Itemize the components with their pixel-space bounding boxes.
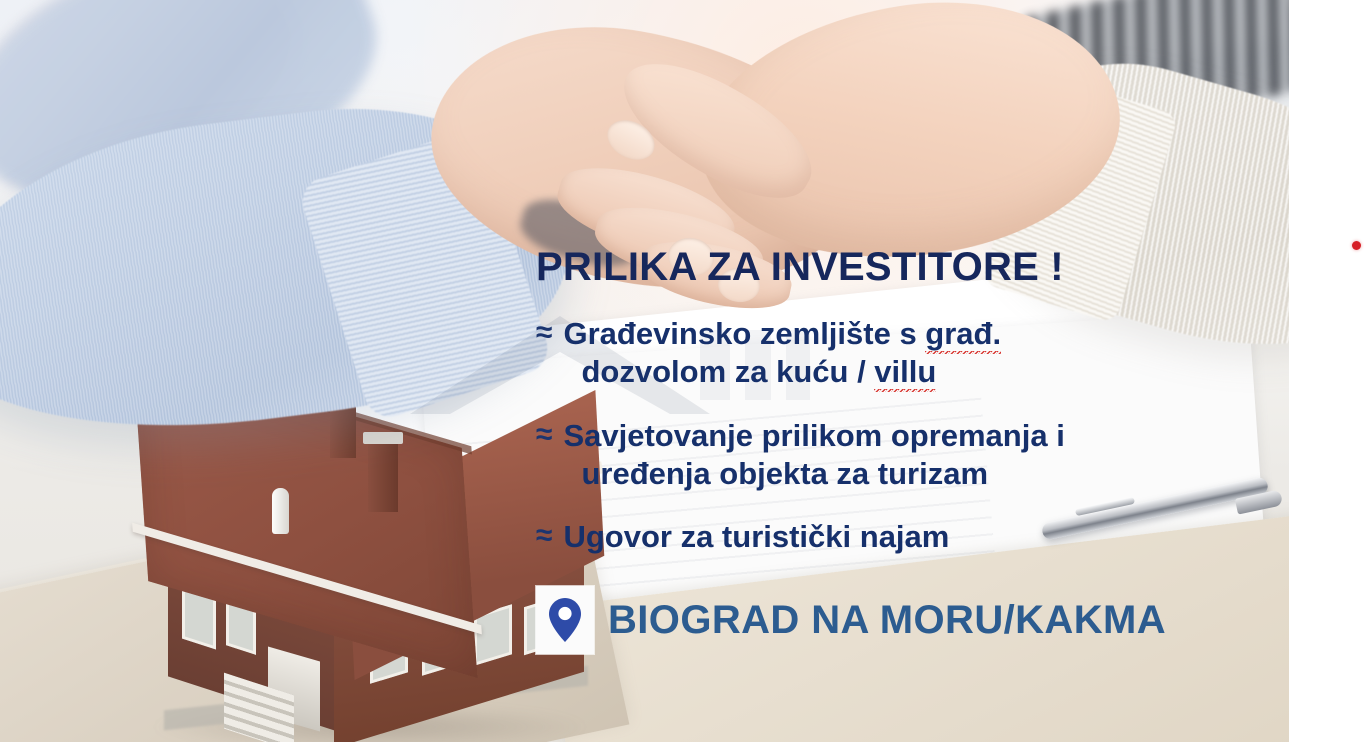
red-accent-dot (1352, 241, 1361, 250)
location-name: BIOGRAD NA MORU/KAKMA (608, 598, 1166, 643)
bullet-marker-icon: ≈ (536, 417, 552, 453)
location-badge: BIOGRAD NA MORU/KAKMA (536, 586, 1296, 654)
bullet-marker-icon: ≈ (536, 518, 552, 554)
list-item-text: Građevinsko zemljište s građ. dozvolom z… (563, 315, 1296, 391)
page-title: PRILIKA ZA INVESTITORE ! (536, 246, 1296, 289)
list-item-line2: uređenja objekta za turizam (563, 455, 1296, 493)
list-item: ≈ Građevinsko zemljište s građ. dozvolom… (536, 315, 1296, 391)
banner-image: PRILIKA ZA INVESTITORE ! ≈ Građevinsko z… (0, 0, 1364, 742)
list-item: ≈ Ugovor za turistički najam (536, 518, 1296, 556)
list-item: ≈ Savjetovanje prilikom opremanja i uređ… (536, 417, 1296, 493)
list-item-line1-a: Građevinsko zemljište s (563, 316, 925, 351)
house-vent-pipe (272, 488, 289, 534)
feature-list: ≈ Građevinsko zemljište s građ. dozvolom… (536, 315, 1296, 556)
list-item-line2-b: villu (874, 354, 936, 392)
right-white-gutter (1289, 0, 1364, 742)
list-item-line1-a: Ugovor za turistički najam (563, 519, 949, 554)
list-item-text: Ugovor za turistički najam (563, 518, 1296, 556)
map-pin-icon (536, 586, 594, 654)
list-item-line2-a: dozvolom za kuću / (581, 354, 874, 389)
list-item-line2-a: uređenja objekta za turizam (581, 456, 988, 491)
model-house (120, 392, 580, 742)
list-item-line1-b: građ. (925, 316, 1001, 354)
house-chimney-cap (363, 432, 403, 444)
bullet-marker-icon: ≈ (536, 315, 552, 351)
text-overlay: PRILIKA ZA INVESTITORE ! ≈ Građevinsko z… (536, 246, 1296, 654)
house-chimney (368, 438, 398, 512)
list-item-line1-a: Savjetovanje prilikom opremanja i (563, 418, 1064, 453)
list-item-line2: dozvolom za kuću / villu (563, 353, 1296, 391)
list-item-text: Savjetovanje prilikom opremanja i uređen… (563, 417, 1296, 493)
